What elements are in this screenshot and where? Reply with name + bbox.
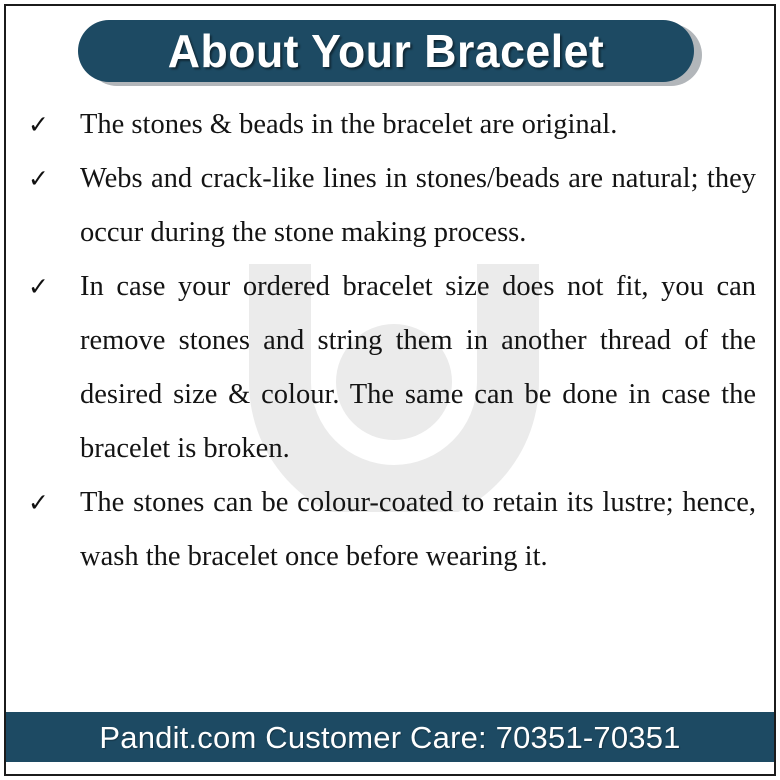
list-item-text: Webs and crack-like lines in stones/bead…: [80, 152, 756, 260]
check-icon: ✓: [28, 152, 58, 206]
customer-care-text: Pandit.com Customer Care: 70351-70351: [99, 722, 680, 753]
header: About Your Bracelet: [6, 6, 774, 98]
check-icon: ✓: [28, 98, 58, 152]
bullet-list: ✓ The stones & beads in the bracelet are…: [6, 98, 774, 584]
list-item-text: In case your ordered bracelet size does …: [80, 260, 756, 476]
check-icon: ✓: [28, 260, 58, 314]
customer-care-footer: Pandit.com Customer Care: 70351-70351: [6, 712, 774, 762]
list-item: ✓ The stones & beads in the bracelet are…: [6, 98, 774, 152]
check-icon: ✓: [28, 476, 58, 530]
list-item: ✓ In case your ordered bracelet size doe…: [6, 260, 774, 476]
list-item-text: The stones can be colour-coated to retai…: [80, 476, 756, 584]
list-item: ✓ Webs and crack-like lines in stones/be…: [6, 152, 774, 260]
info-card: About Your Bracelet ✓ The stones & beads…: [4, 4, 776, 776]
list-item: ✓ The stones can be colour-coated to ret…: [6, 476, 774, 584]
list-item-text: The stones & beads in the bracelet are o…: [80, 98, 756, 152]
page-title: About Your Bracelet: [168, 28, 604, 74]
header-pill: About Your Bracelet: [78, 20, 694, 82]
